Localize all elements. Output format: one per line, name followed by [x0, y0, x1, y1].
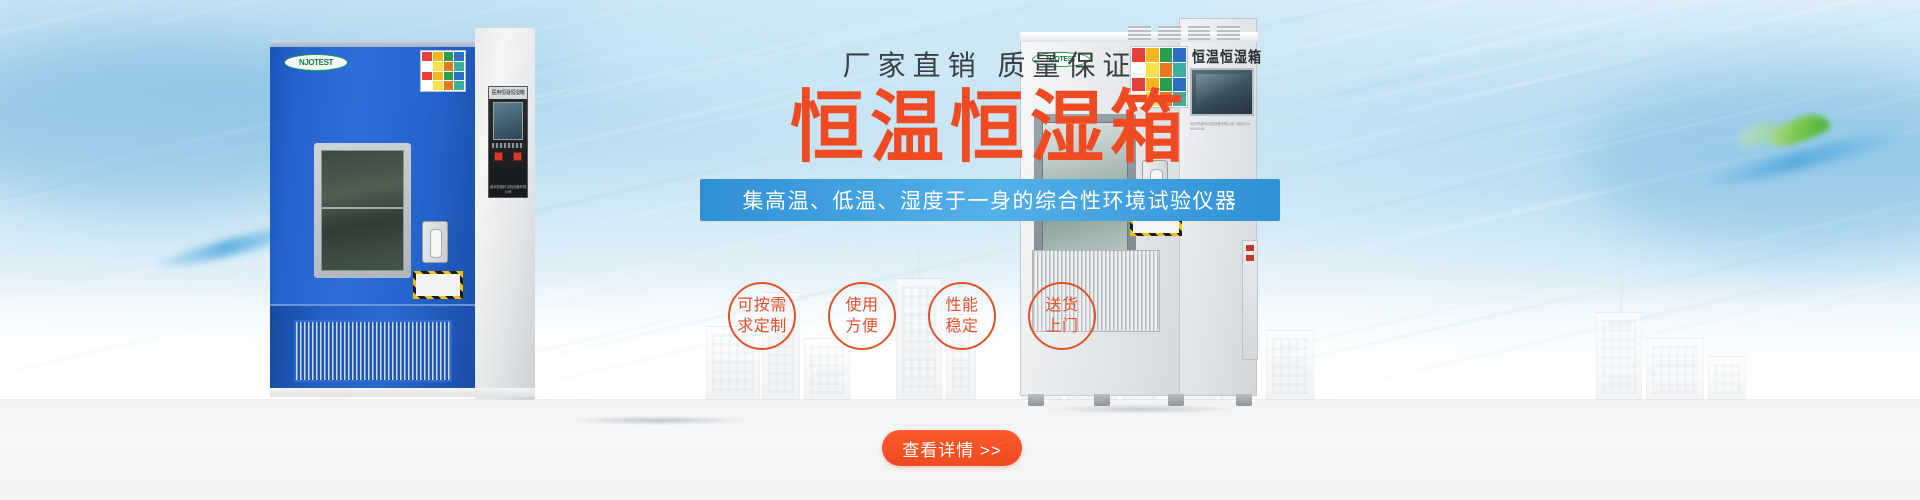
product-image-left: NJOTEST 医用恒温恒湿箱 南京舒普科试验设备有限公司 [270, 28, 535, 398]
control-panel-left-caption: 医用恒温恒湿箱 [489, 87, 527, 99]
promo-banner: NJOTEST 医用恒温恒湿箱 南京舒普科试验设备有限公司 NJOTEST 恒温… [0, 0, 1920, 500]
badge-line-2: 方便 [845, 316, 878, 337]
warning-label-grid-left [420, 50, 466, 92]
building [1266, 330, 1314, 400]
product-shadow-left [534, 414, 784, 427]
brand-logo-left: NJOTEST [284, 54, 348, 71]
chamber-left-viewport [314, 143, 411, 278]
control-panel-left-footnote: 南京舒普科试验设备有限公司 [489, 185, 527, 195]
chamber-left-door-handle [422, 221, 448, 263]
chamber-left-side-panel [475, 28, 535, 400]
control-panel-left-button-strip [492, 143, 524, 148]
building [1596, 312, 1642, 400]
feature-badge-stable: 性能 稳定 [928, 282, 996, 350]
city-silhouette-far-right [1580, 270, 1880, 400]
badge-line-2: 求定制 [737, 316, 787, 337]
badge-line-1: 使用 [845, 295, 878, 316]
chamber-right-feet [1028, 394, 1254, 406]
building [1646, 338, 1704, 400]
chamber-left-top-edge [270, 40, 475, 47]
feature-badge-easy-use: 使用 方便 [828, 282, 896, 350]
badge-line-2: 稳定 [945, 316, 978, 337]
chamber-left-vent-grill [294, 320, 452, 382]
badge-line-2: 上门 [1045, 316, 1078, 337]
subtitle-text: 集高温、低温、湿度于一身的综合性环境试验仪器 [743, 185, 1238, 215]
badge-line-1: 性能 [945, 295, 978, 316]
feature-badge-delivery: 送货 上门 [1028, 282, 1096, 350]
subtitle-bar: 集高温、低温、湿度于一身的综合性环境试验仪器 [700, 179, 1280, 221]
control-panel-left-indicators [489, 152, 527, 161]
chamber-left-plinth [270, 388, 535, 397]
tagline: 厂家直销 质量保证 [640, 44, 1340, 84]
feature-badge-list: 可按需 求定制 使用 方便 性能 稳定 送货 上门 [728, 282, 1096, 350]
badge-line-1: 可按需 [737, 295, 787, 316]
chamber-right-top-vents [1128, 26, 1240, 40]
feature-badge-custom: 可按需 求定制 [728, 282, 796, 350]
chamber-right-side-switches [1242, 240, 1258, 360]
control-panel-left-display [493, 102, 523, 140]
headline-block: 厂家直销 质量保证 恒温恒湿箱 集高温、低温、湿度于一身的综合性环境试验仪器 [640, 44, 1340, 221]
badge-line-1: 送货 [1045, 295, 1078, 316]
hazard-label-left [413, 271, 463, 299]
control-panel-left: 医用恒温恒湿箱 南京舒普科试验设备有限公司 [488, 86, 528, 198]
view-details-button[interactable]: 查看详情 >> [882, 430, 1022, 466]
page-title: 恒温恒湿箱 [640, 88, 1340, 170]
building [1708, 356, 1746, 400]
